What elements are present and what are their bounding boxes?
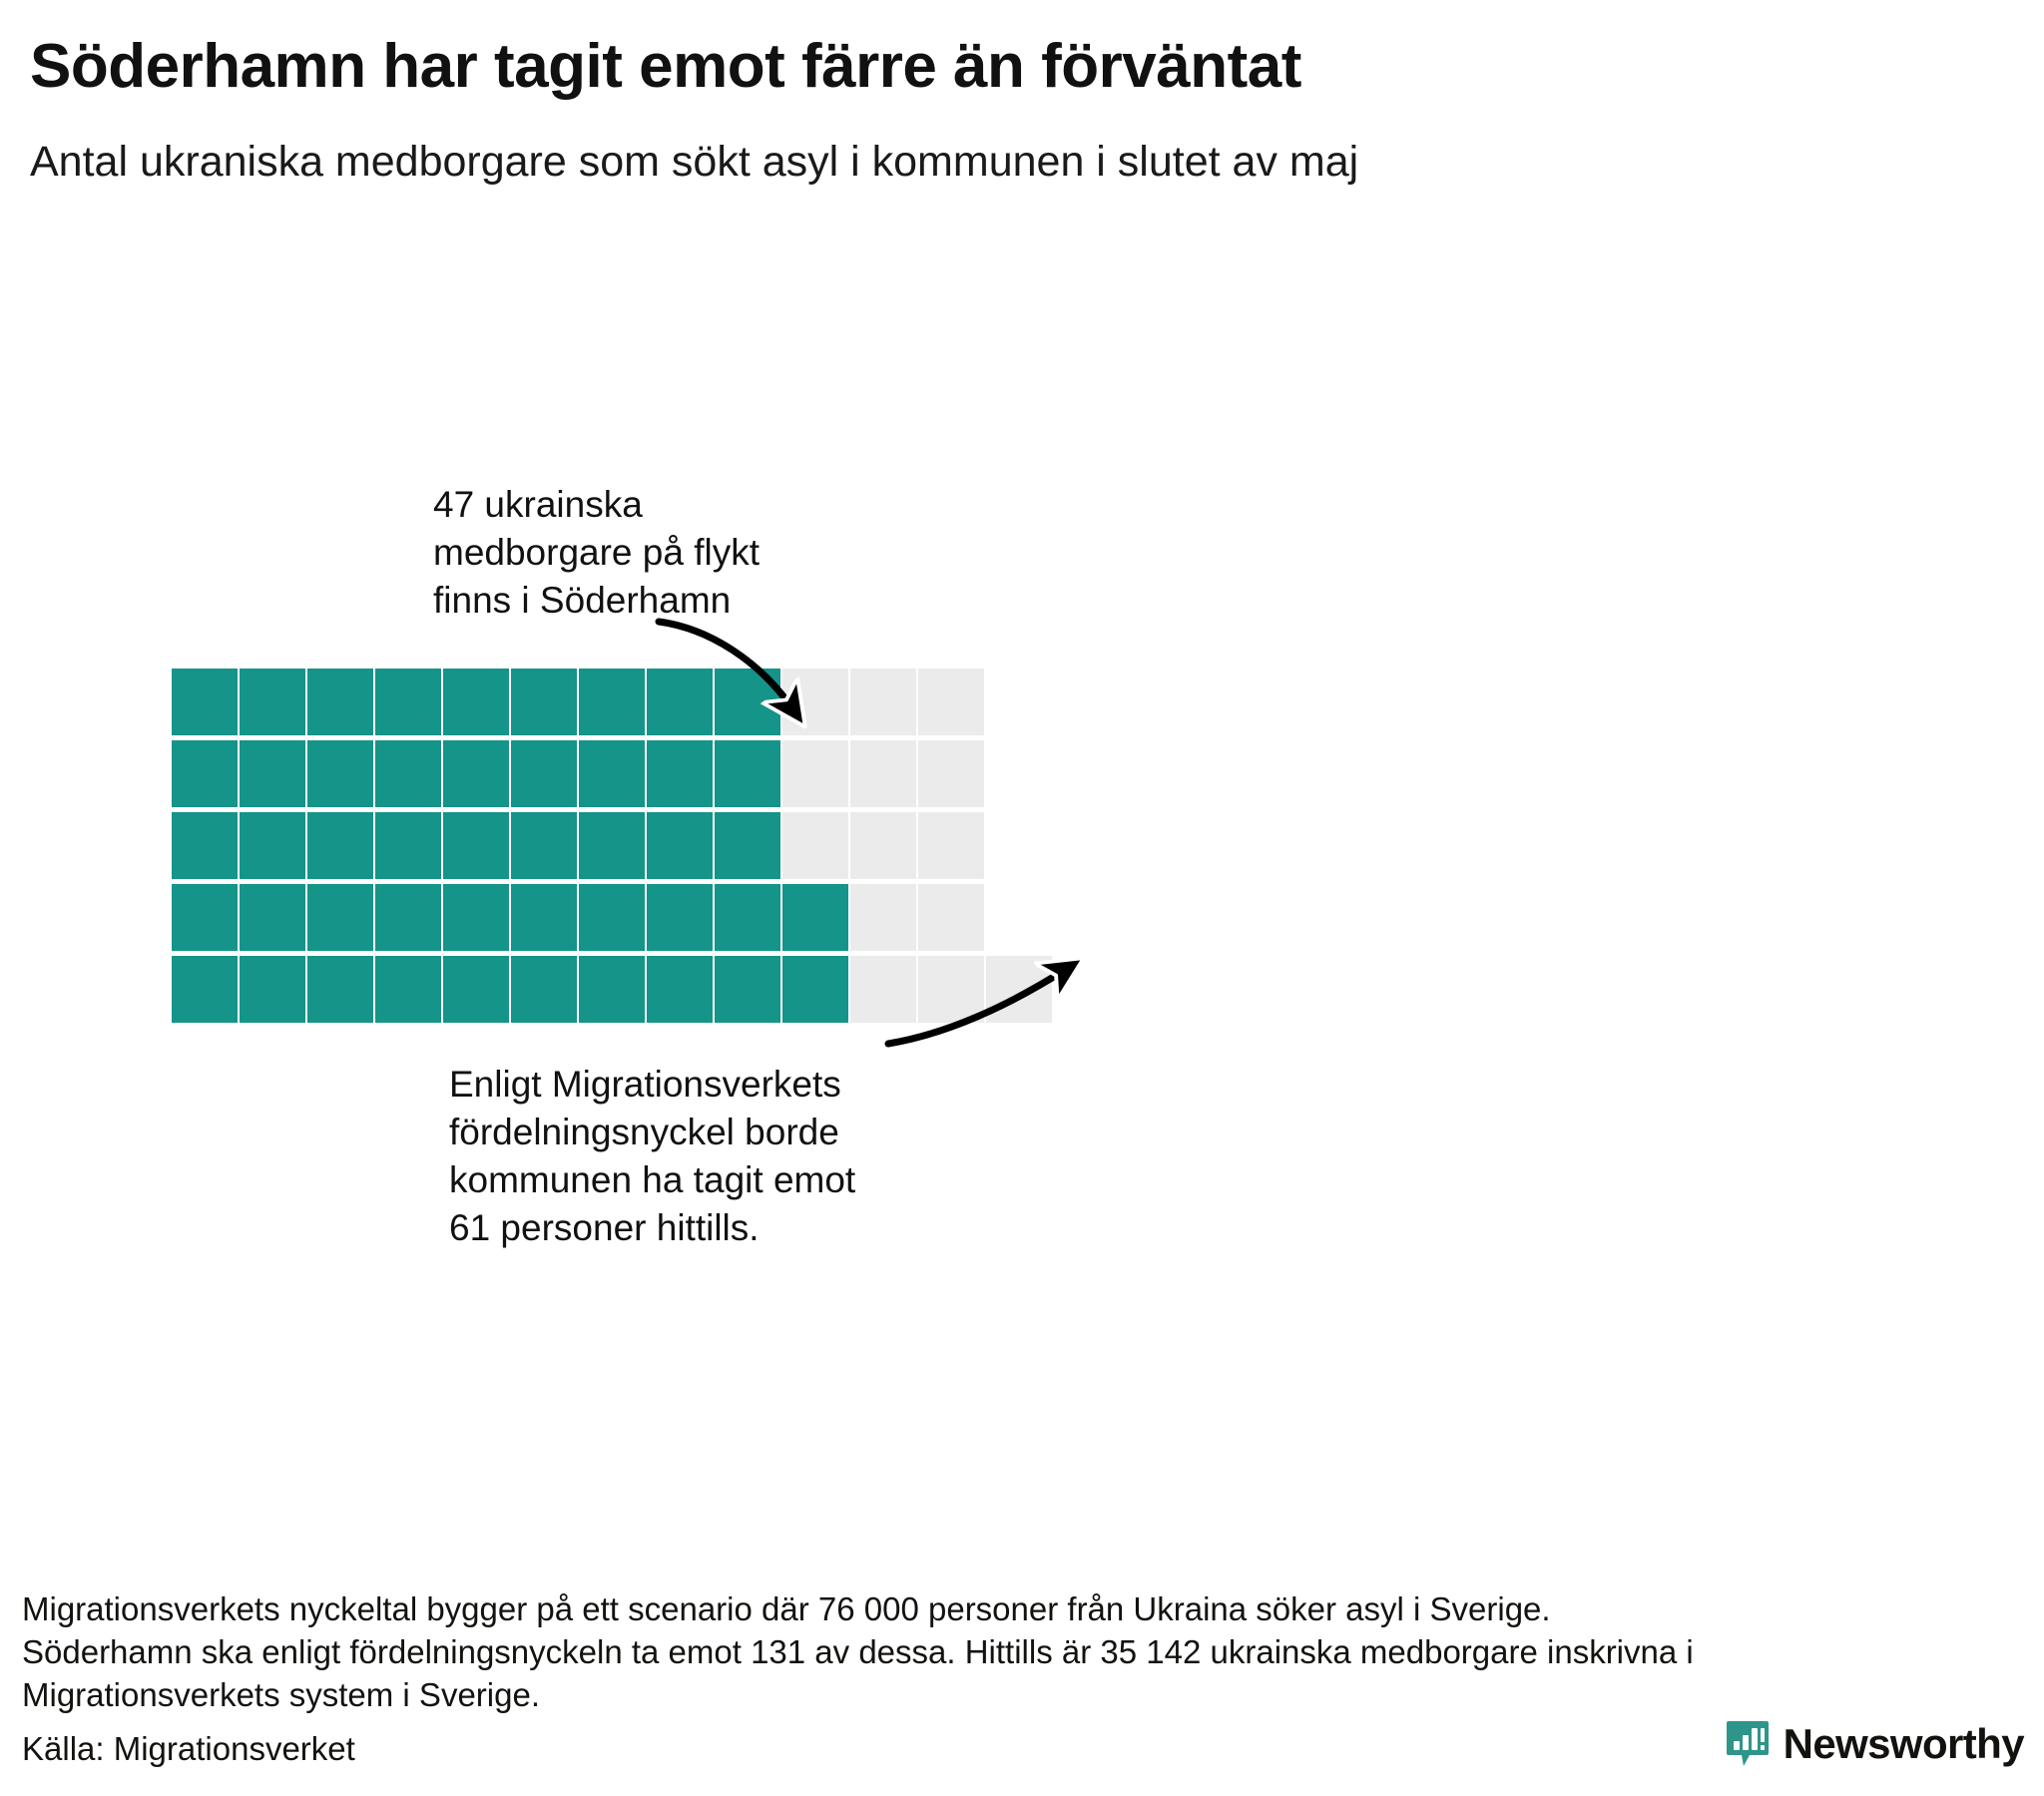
waffle-cell-empty xyxy=(918,884,984,951)
waffle-cell-filled xyxy=(375,669,441,735)
waffle-cell-filled xyxy=(579,956,645,1023)
waffle-cell-filled xyxy=(443,740,509,807)
waffle-cell-filled xyxy=(307,669,373,735)
waffle-cell-filled xyxy=(511,956,577,1023)
waffle-cell-filled xyxy=(240,740,305,807)
waffle-cell-filled xyxy=(647,812,713,879)
waffle-cell-filled xyxy=(647,956,713,1023)
waffle-cell-filled xyxy=(375,740,441,807)
waffle-row xyxy=(172,812,1106,879)
waffle-cell-filled xyxy=(240,956,305,1023)
chart-footer: Migrationsverkets nyckeltal bygger på et… xyxy=(22,1588,2024,1717)
waffle-cell-filled xyxy=(715,884,780,951)
footnote-text: Migrationsverkets nyckeltal bygger på et… xyxy=(22,1588,2024,1717)
waffle-chart xyxy=(172,669,1106,1028)
waffle-cell-empty xyxy=(918,669,984,735)
waffle-cell-empty xyxy=(850,884,916,951)
waffle-cell-filled xyxy=(375,956,441,1023)
chart-header: Söderhamn har tagit emot färre än förvän… xyxy=(30,34,2016,187)
waffle-cell-filled xyxy=(782,884,848,951)
chart-subtitle: Antal ukraniska medborgare som sökt asyl… xyxy=(30,101,2016,187)
waffle-cell-filled xyxy=(375,884,441,951)
waffle-cell-filled xyxy=(715,812,780,879)
waffle-cell-filled xyxy=(172,740,238,807)
waffle-cell-filled xyxy=(375,812,441,879)
waffle-row xyxy=(172,740,1106,807)
waffle-cell-empty xyxy=(850,740,916,807)
waffle-cell-empty xyxy=(918,740,984,807)
waffle-cell-filled xyxy=(579,740,645,807)
waffle-cell-filled xyxy=(715,669,780,735)
annotation-actual: 47 ukrainska medborgare på flykt finns i… xyxy=(433,481,760,625)
logo-wordmark: Newsworthy xyxy=(1784,1723,2024,1765)
bar-chart-speech-bubble-icon xyxy=(1726,1719,1770,1769)
waffle-cell-filled xyxy=(647,740,713,807)
waffle-cell-filled xyxy=(579,669,645,735)
waffle-cell-filled xyxy=(579,812,645,879)
source-row: Källa: Migrationsverket Newsworthy xyxy=(22,1727,2024,1787)
waffle-cell-filled xyxy=(443,884,509,951)
waffle-cell-empty xyxy=(986,956,1052,1023)
waffle-cell-empty xyxy=(918,812,984,879)
waffle-cell-filled xyxy=(307,812,373,879)
waffle-row xyxy=(172,669,1106,735)
waffle-cell-filled xyxy=(511,669,577,735)
waffle-cell-empty xyxy=(918,956,984,1023)
waffle-cell-filled xyxy=(715,956,780,1023)
waffle-cell-filled xyxy=(647,669,713,735)
newsworthy-logo[interactable]: Newsworthy xyxy=(1726,1719,2024,1769)
waffle-cell-filled xyxy=(511,812,577,879)
waffle-cell-filled xyxy=(443,669,509,735)
waffle-row xyxy=(172,956,1106,1023)
waffle-cell-filled xyxy=(172,884,238,951)
waffle-cell-filled xyxy=(443,956,509,1023)
waffle-cell-filled xyxy=(511,740,577,807)
waffle-cell-filled xyxy=(172,956,238,1023)
waffle-cell-filled xyxy=(715,740,780,807)
waffle-cell-empty xyxy=(782,669,848,735)
waffle-cell-filled xyxy=(511,884,577,951)
waffle-cell-empty xyxy=(850,956,916,1023)
waffle-cell-filled xyxy=(307,740,373,807)
waffle-cell-filled xyxy=(240,884,305,951)
waffle-cell-filled xyxy=(443,812,509,879)
waffle-cell-empty xyxy=(782,812,848,879)
waffle-cell-filled xyxy=(172,669,238,735)
waffle-cell-filled xyxy=(579,884,645,951)
waffle-cell-empty xyxy=(850,669,916,735)
waffle-cell-empty xyxy=(850,812,916,879)
waffle-cell-filled xyxy=(172,812,238,879)
waffle-cell-filled xyxy=(307,884,373,951)
waffle-cell-empty xyxy=(782,740,848,807)
waffle-cell-filled xyxy=(647,884,713,951)
source-label: Källa: Migrationsverket xyxy=(22,1729,355,1769)
waffle-cell-filled xyxy=(240,669,305,735)
page-title: Söderhamn har tagit emot färre än förvän… xyxy=(30,34,2016,101)
waffle-row xyxy=(172,884,1106,951)
waffle-cell-filled xyxy=(782,956,848,1023)
annotation-expected: Enligt Migrationsverkets fördelningsnyck… xyxy=(449,1061,855,1252)
waffle-cell-filled xyxy=(240,812,305,879)
waffle-cell-filled xyxy=(307,956,373,1023)
